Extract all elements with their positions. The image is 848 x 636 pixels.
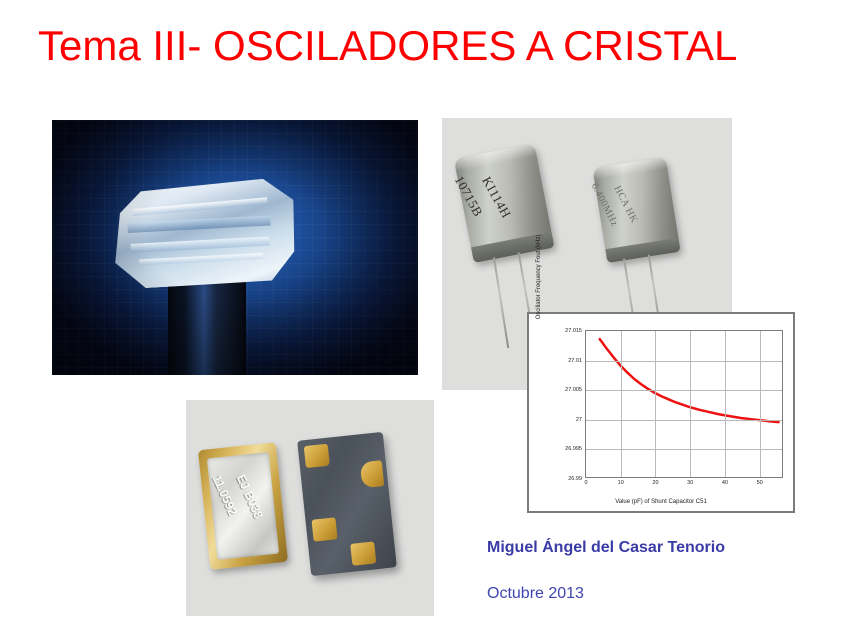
presentation-date: Octubre 2013	[487, 585, 584, 603]
chart-gridline-vertical	[725, 331, 726, 477]
chart-gridline-vertical	[760, 331, 761, 477]
chart-x-tick-label: 20	[652, 480, 658, 486]
chart-x-tick-label: 40	[722, 480, 728, 486]
chart-y-tick-label: 27	[576, 417, 582, 423]
smd-marking-line2: EJ B038	[234, 472, 266, 520]
smd-metal-lid: 11.0592 EJ B038	[207, 452, 279, 560]
chart-y-axis-label: Oscillator Frequency Fout (kHz)	[533, 212, 545, 342]
chart-gridline-vertical	[621, 331, 622, 477]
smd-pad-3	[311, 517, 337, 541]
crystal-lead-1	[493, 257, 509, 348]
chart-y-tick-label: 27.01	[568, 358, 582, 364]
can-top-bevel	[454, 143, 537, 171]
chart-gridline-horizontal	[586, 420, 782, 421]
chart-x-tick-label: 0	[584, 480, 587, 486]
chart-series-line	[600, 339, 779, 422]
photo-vignette	[52, 120, 418, 375]
chart-gridline-horizontal	[586, 361, 782, 362]
frequency-pulling-chart: Oscillator Frequency Fout (kHz) 26.9926.…	[527, 312, 795, 513]
chart-y-tick-label: 26.99	[568, 476, 582, 482]
can-base	[605, 237, 680, 263]
smd-pad-2	[360, 460, 385, 488]
chart-x-tick-label: 50	[757, 480, 763, 486]
smd-pad-4	[350, 541, 376, 565]
chart-x-tick-label: 10	[618, 480, 624, 486]
smd-pad-1	[304, 444, 330, 468]
chart-y-tick-label: 26.995	[565, 446, 582, 452]
page-title: Tema III- OSCILADORES A CRISTAL	[38, 22, 737, 70]
chart-x-tick-label: 30	[687, 480, 693, 486]
chart-gridline-horizontal	[586, 390, 782, 391]
chart-gridline-horizontal	[586, 449, 782, 450]
author-name: Miguel Ángel del Casar Tenorio	[487, 539, 725, 557]
chart-x-axis-label: Value (pF) of Shunt Capacitor C51	[529, 499, 793, 505]
chart-plot-area: 26.9926.9952727.00527.0127.0150102030405…	[585, 330, 783, 478]
quartz-crystal-photo	[52, 120, 418, 375]
can-top-bevel	[592, 157, 667, 180]
smd-crystal-dark-package	[297, 432, 397, 576]
chart-gridline-vertical	[690, 331, 691, 477]
chart-y-tick-label: 27.015	[565, 328, 582, 334]
chart-gridline-vertical	[655, 331, 656, 477]
chart-curve	[586, 331, 782, 477]
smd-crystals-photo: 11.0592 EJ B038	[186, 400, 434, 616]
chart-y-tick-label: 27.005	[565, 387, 582, 393]
smd-crystal-gold-package: 11.0592 EJ B038	[198, 442, 288, 569]
